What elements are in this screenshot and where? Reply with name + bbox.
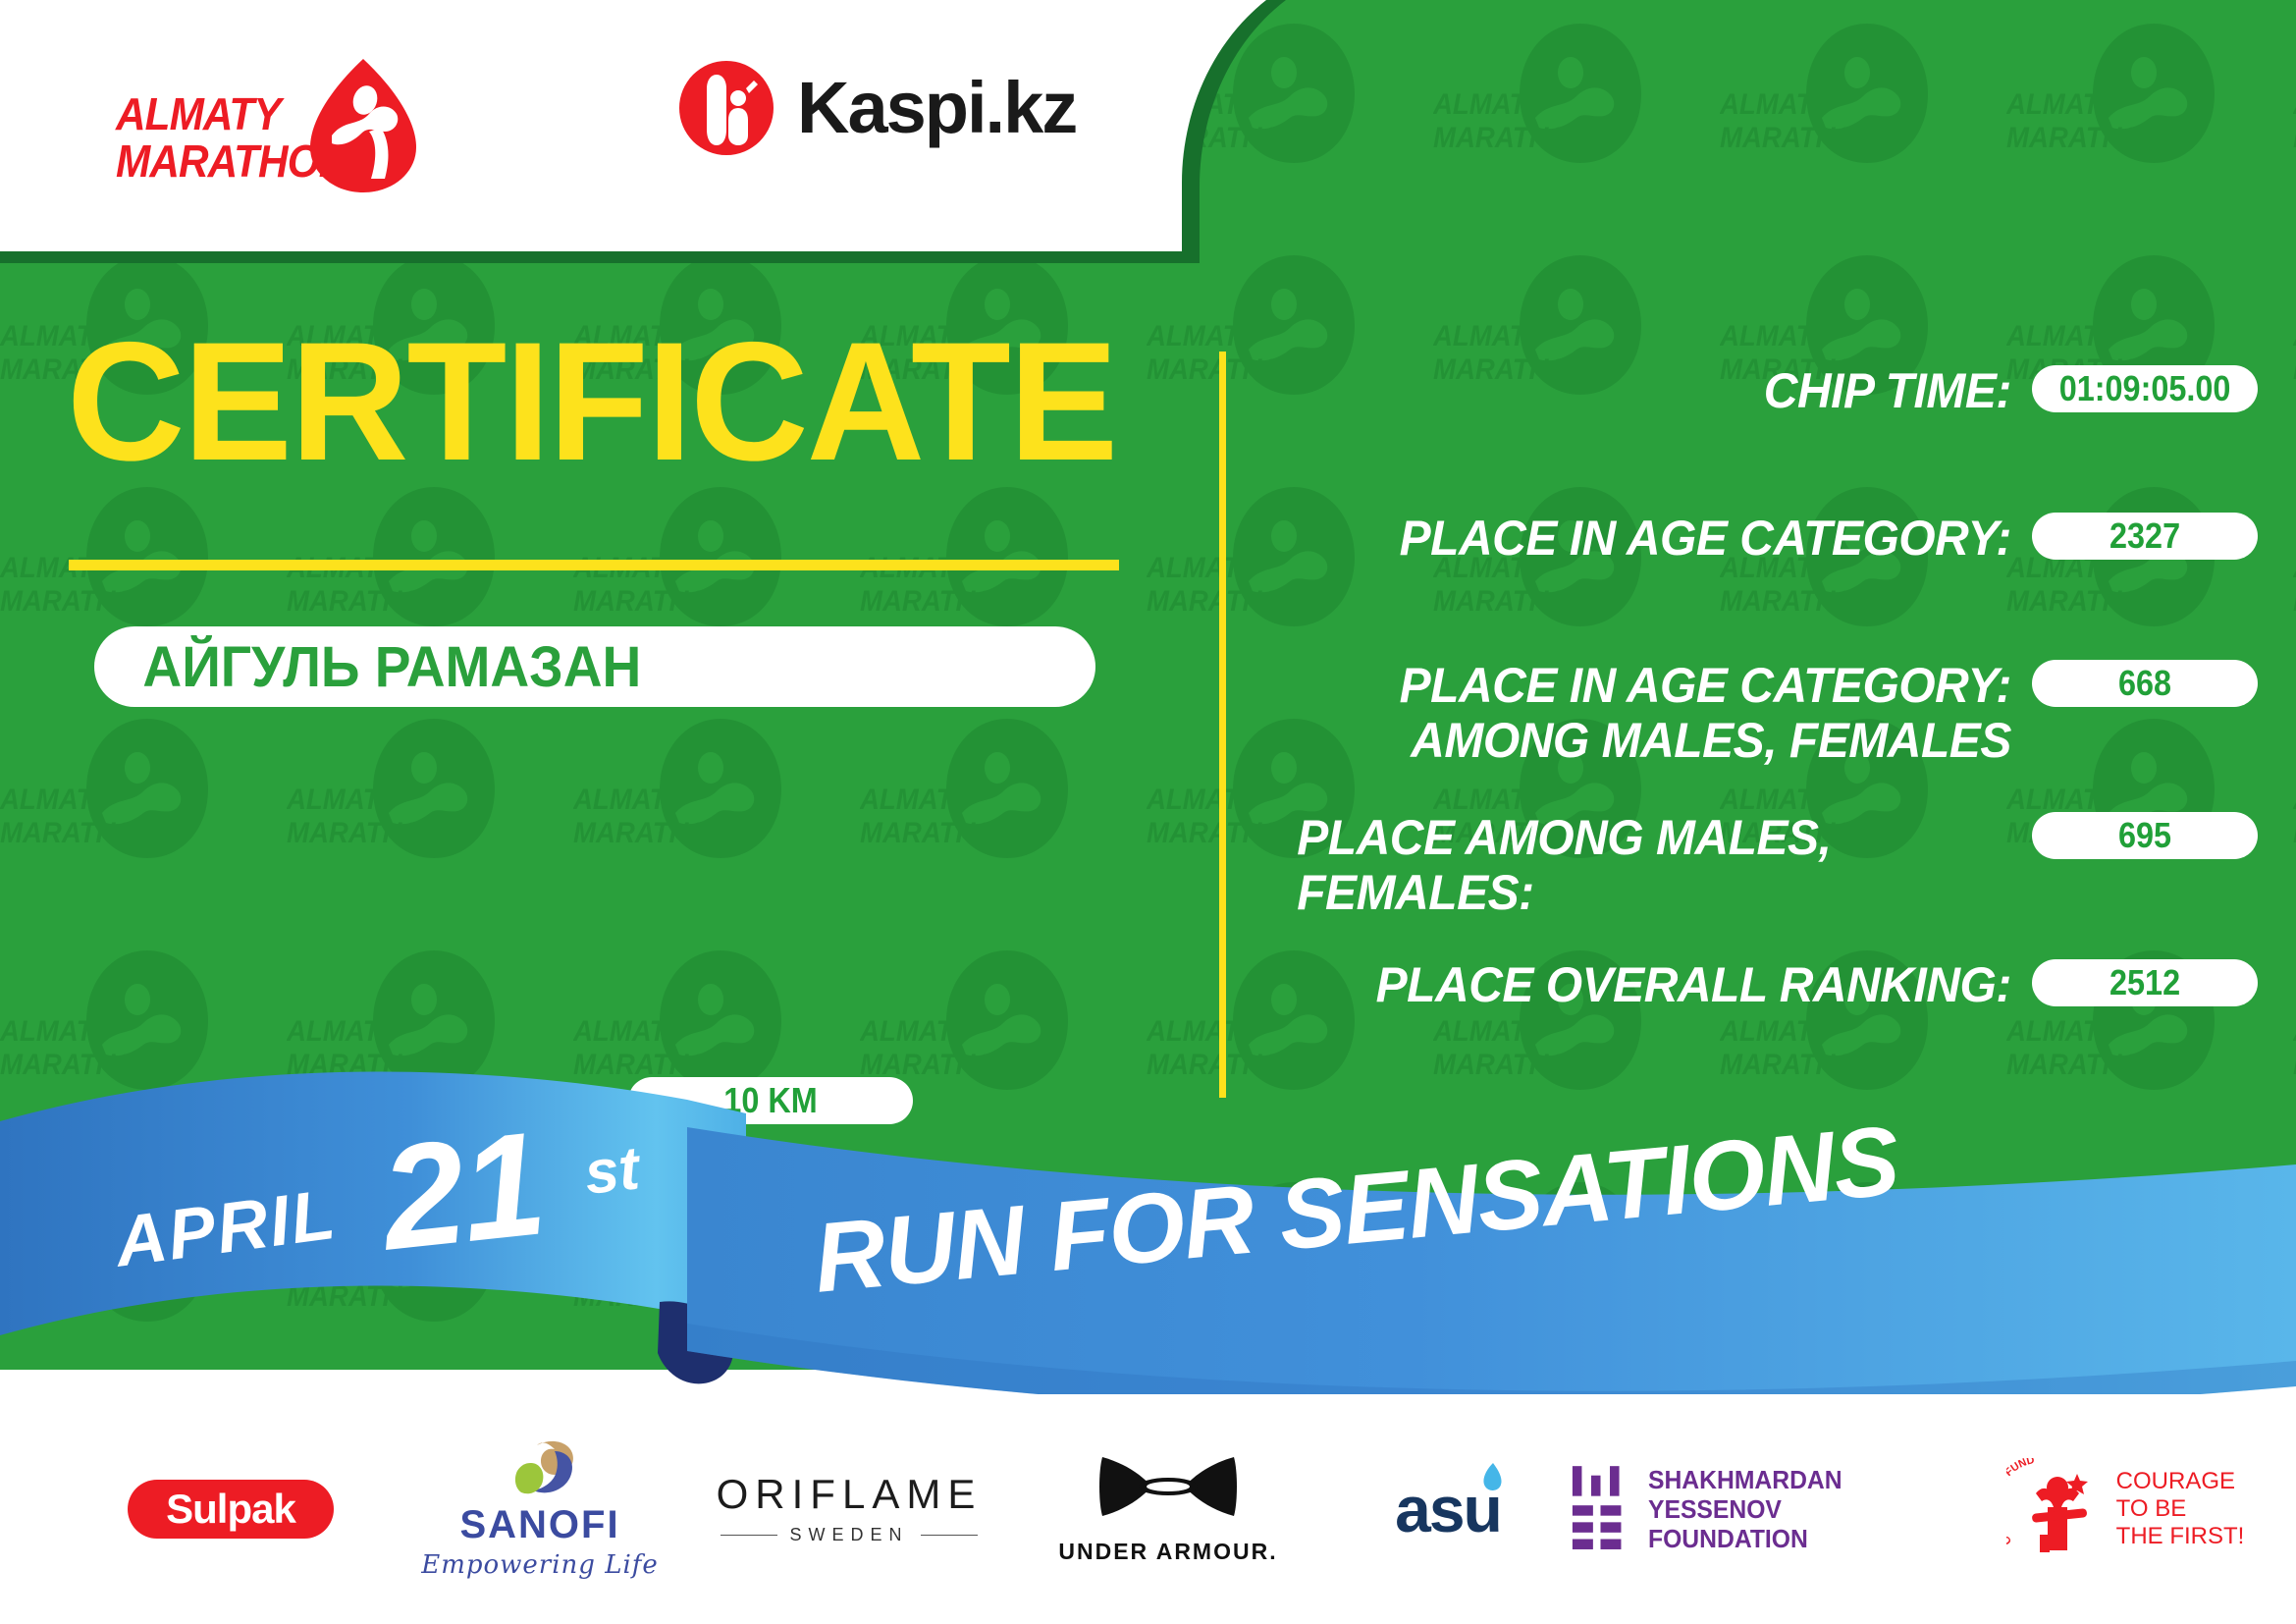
label-line-1: PLACE AMONG MALES,	[1297, 810, 1831, 865]
result-row-chip-time: CHIP TIME: 01:09:05.00	[1266, 363, 2258, 418]
courage-runner-icon: CORPORATE FUND	[2006, 1458, 2105, 1560]
under-armour-icon	[1095, 1453, 1242, 1526]
place-age-category-gender-label: PLACE IN AGE CATEGORY: AMONG MALES, FEMA…	[1297, 658, 2032, 768]
under-armour-logo-box: UNDER ARMOUR.	[1058, 1453, 1277, 1565]
result-row-place-age-category: PLACE IN AGE CATEGORY: 2327	[1266, 511, 2258, 566]
courage-line-2: TO BE	[2116, 1495, 2245, 1523]
sponsor-logo-oriflame: ORIFLAME SWEDEN	[687, 1431, 1011, 1588]
yessenov-line-2: FOUNDATION	[1648, 1524, 1966, 1553]
sponsor-logo-courage-fund: CORPORATE FUND COURAGE TO BE THE FIRST!	[1983, 1431, 2268, 1588]
runner-drop-icon	[308, 57, 418, 194]
header-logos: ALMATY MARATHON Kaspi.kz	[0, 0, 1276, 273]
label-line-2: FEMALES:	[1297, 865, 1533, 920]
yessenov-wordmark: SHAKHMARDAN YESSENOV FOUNDATION	[1648, 1465, 1966, 1553]
sulpak-pill-shape: Sulpak	[128, 1480, 334, 1539]
asu-wordmark: asu	[1395, 1477, 1501, 1542]
vertical-divider	[1219, 352, 1226, 1098]
oriflame-wordmark: ORIFLAME	[717, 1474, 983, 1515]
under-armour-wordmark: UNDER ARMOUR.	[1058, 1539, 1277, 1565]
certificate-page: ALMATY MARATHON ALMATY MARATHON	[0, 0, 2296, 1624]
place-among-gender-label: PLACE AMONG MALES, FEMALES:	[1297, 810, 2032, 920]
result-row-place-among-gender: PLACE AMONG MALES, FEMALES: 695	[1266, 810, 2258, 920]
logo-line-almaty: ALMATY	[116, 90, 310, 137]
ribbon-day-ordinal: st	[581, 1133, 642, 1208]
place-among-gender-value-field: 695	[2032, 812, 2258, 859]
oriflame-logo-box: ORIFLAME SWEDEN	[717, 1474, 983, 1545]
almaty-marathon-logo: ALMATY MARATHON	[116, 57, 420, 194]
title-underline-rule	[69, 560, 1119, 570]
sponsor-logo-sulpak: Sulpak	[69, 1431, 393, 1588]
sponsor-logo-under-armour: UNDER ARMOUR.	[1011, 1431, 1325, 1588]
place-age-category-label: PLACE IN AGE CATEGORY:	[1297, 511, 2032, 566]
sanofi-logo-box: SANOFI Empowering Life	[421, 1439, 659, 1580]
sanofi-bird-icon	[498, 1439, 582, 1500]
sulpak-wordmark: Sulpak	[166, 1486, 295, 1533]
courage-line-1: COURAGE	[2116, 1468, 2245, 1495]
courage-arc-text: CORPORATE FUND	[2006, 1458, 2036, 1547]
result-row-place-age-category-gender: PLACE IN AGE CATEGORY: AMONG MALES, FEMA…	[1266, 658, 2258, 768]
label-line-1: PLACE IN AGE CATEGORY:	[1400, 658, 2011, 713]
place-overall-value: 2512	[2109, 962, 2180, 1003]
place-age-category-value-field: 2327	[2032, 513, 2258, 560]
oriflame-subtext: SWEDEN	[789, 1525, 908, 1545]
chip-time-value: 01:09:05.00	[2059, 368, 2231, 409]
place-overall-label: PLACE OVERALL RANKING:	[1297, 957, 2032, 1012]
asu-logo-box: asu	[1395, 1477, 1501, 1542]
place-among-gender-value: 695	[2118, 815, 2171, 856]
oriflame-rule-left	[721, 1535, 777, 1536]
kaspi-logo: Kaspi.kz	[677, 59, 1076, 157]
result-row-place-overall: PLACE OVERALL RANKING: 2512	[1266, 957, 2258, 1012]
sponsor-logo-yessenov-foundation: SHAKHMARDAN YESSENOV FOUNDATION	[1571, 1431, 1983, 1588]
yessenov-logo-box: SHAKHMARDAN YESSENOV FOUNDATION	[1571, 1462, 1983, 1556]
yessenov-bars-icon	[1571, 1462, 1629, 1556]
courage-logo-box: CORPORATE FUND COURAGE TO BE THE FIRST!	[2006, 1458, 2245, 1560]
place-age-category-value: 2327	[2109, 515, 2180, 557]
yessenov-line-1: SHAKHMARDAN YESSENOV	[1648, 1465, 1966, 1524]
certificate-title: CERTIFICATE	[67, 317, 1116, 486]
place-age-category-gender-value-field: 668	[2032, 660, 2258, 707]
chip-time-label: CHIP TIME:	[1297, 363, 2032, 418]
oriflame-sub-line: SWEDEN	[717, 1525, 983, 1545]
participant-name-field: АЙГУЛЬ РАМАЗАН	[94, 626, 1095, 707]
svg-text:CORPORATE FUND: CORPORATE FUND	[2006, 1458, 2036, 1547]
oriflame-rule-right	[921, 1535, 978, 1536]
courage-wordmark: COURAGE TO BE THE FIRST!	[2116, 1468, 2245, 1550]
place-age-category-gender-value: 668	[2118, 663, 2171, 704]
place-overall-value-field: 2512	[2032, 959, 2258, 1006]
sponsor-logo-bar: Sulpak SANOFI Empowering Life ORIFLAME S…	[0, 1394, 2296, 1624]
sponsor-logo-asu: asu	[1325, 1431, 1571, 1588]
sponsor-logo-sanofi: SANOFI Empowering Life	[393, 1431, 687, 1588]
label-line-2: AMONG MALES, FEMALES	[1411, 713, 2011, 768]
kaspi-people-icon	[677, 59, 775, 157]
kaspi-logo-text: Kaspi.kz	[797, 72, 1076, 144]
participant-name-text: АЙГУЛЬ РАМАЗАН	[94, 634, 641, 700]
chip-time-value-field: 01:09:05.00	[2032, 365, 2258, 412]
ribbon-day-number: 21	[374, 1098, 551, 1283]
logo-line-marathon: MARATHON	[116, 137, 310, 185]
almaty-marathon-logo-text: ALMATY MARATHON	[116, 90, 310, 185]
sanofi-wordmark: SANOFI	[421, 1505, 659, 1544]
courage-line-3: THE FIRST!	[2116, 1523, 2245, 1550]
sanofi-tagline: Empowering Life	[421, 1550, 659, 1580]
